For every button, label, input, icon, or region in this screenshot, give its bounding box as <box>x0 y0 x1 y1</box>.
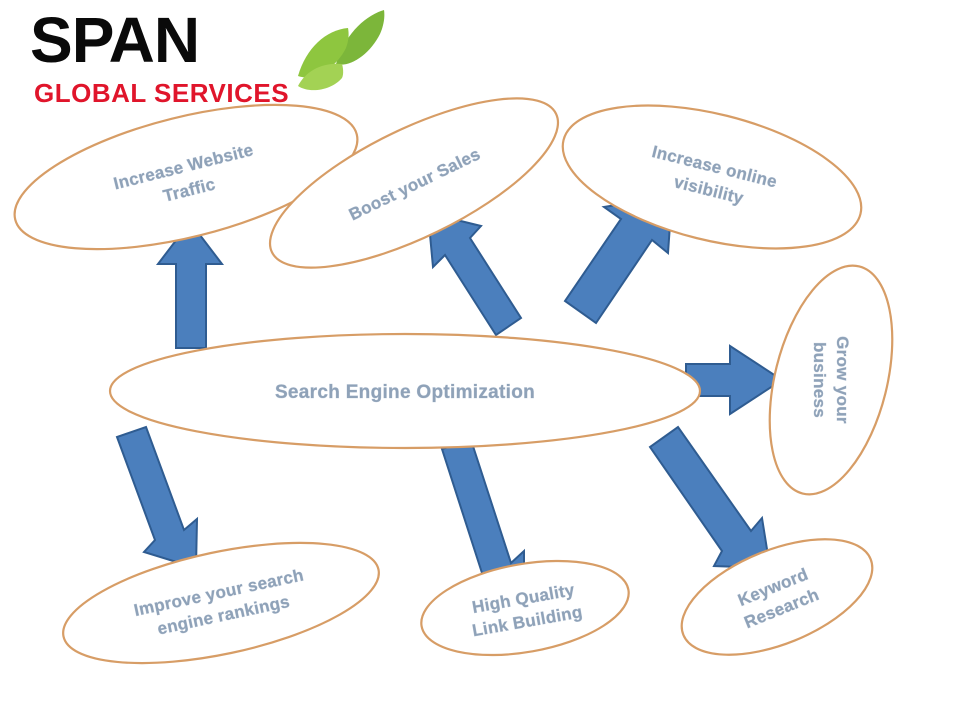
seo-mindmap: Search Engine Optimization Increase Webs… <box>0 0 960 720</box>
node-grow-your-business[interactable]: Grow your business <box>748 253 913 507</box>
arrow-to-keyword-research <box>650 427 770 568</box>
arrow-to-improve-your-search-engine-rankings <box>117 427 197 568</box>
diagram-canvas: SPAN GLOBAL SERVICES <box>0 0 960 720</box>
node-increase-online-visibility[interactable]: Increase online visibility <box>548 79 875 275</box>
node-label-grow-your-business-line2: business <box>810 342 829 418</box>
node-search-engine-optimization[interactable]: Search Engine Optimization <box>110 334 700 448</box>
node-keyword-research[interactable]: Keyword Research <box>666 516 889 679</box>
node-high-quality-link-building[interactable]: High Quality Link Building <box>414 546 636 669</box>
node-label-search-engine-optimization: Search Engine Optimization <box>275 382 535 403</box>
arrow-to-boost-your-sales <box>428 213 521 335</box>
node-improve-your-search-engine-rankings[interactable]: Improve your search engine rankings <box>53 520 389 687</box>
arrow-to-grow-your-business <box>686 346 782 414</box>
node-label-grow-your-business-line1: Grow your <box>833 336 852 424</box>
